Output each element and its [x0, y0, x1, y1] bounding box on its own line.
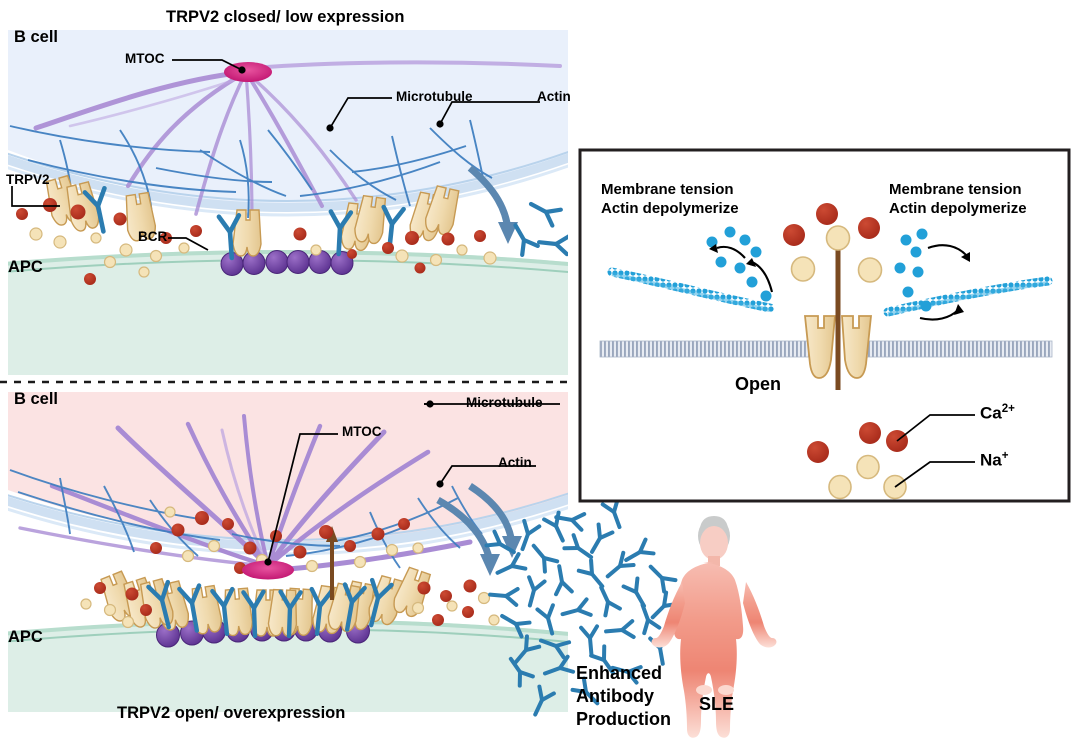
microtubule-dot-top — [326, 124, 333, 131]
bilayer-right — [857, 341, 1052, 357]
sle-label: SLE — [699, 694, 734, 714]
inset-caption-left-line1: Membrane tension — [601, 182, 734, 199]
bilayer-left — [600, 341, 820, 357]
inset-caption-right-line1: Membrane tension — [889, 182, 1022, 199]
panel-top-bcr-label: BCR — [138, 229, 167, 244]
calcium-symbol: Ca — [980, 404, 1002, 423]
panel-bottom-title: TRPV2 open/ overexpression — [117, 704, 345, 722]
inset-calcium-label: Ca2+ — [980, 403, 1015, 423]
panel-bottom-cell-label: B cell — [14, 390, 58, 408]
panel-bottom-actin-label: Actin — [498, 455, 532, 470]
actin-dot-top — [436, 120, 443, 127]
figure-canvas — [0, 0, 1077, 747]
inset-open-label: Open — [735, 374, 781, 394]
inset-sodium-label: Na+ — [980, 450, 1008, 470]
panel-top-mtoc-label: MTOC — [125, 51, 165, 66]
mtoc-dot-bottom — [264, 558, 271, 565]
calcium-charge: 2+ — [1002, 403, 1015, 415]
antibody-production-line1: Enhanced — [576, 663, 662, 683]
panel-top-microtubule-label: Microtubule — [396, 89, 473, 104]
panel-top-cell-label: B cell — [14, 28, 58, 46]
antibodies-top — [508, 196, 569, 255]
inset-caption-right-line2: Actin depolymerize — [889, 201, 1027, 218]
panel-bottom-mtoc-label: MTOC — [342, 424, 382, 439]
panel-top-graphics — [0, 30, 590, 375]
panel-bottom-graphics — [0, 392, 590, 712]
sodium-charge: + — [1002, 450, 1009, 462]
antibody-production-line2: Antibody — [576, 686, 654, 706]
antibody-production-line3: Production — [576, 709, 671, 729]
mtoc-dot-top — [238, 66, 245, 73]
panel-bottom-apc-label: APC — [8, 628, 43, 646]
actin-dot-bottom — [436, 480, 443, 487]
panel-top-actin-label: Actin — [537, 89, 571, 104]
inset-caption-left-line2: Actin depolymerize — [601, 201, 739, 218]
panel-bottom-microtubule-label: Microtubule — [466, 395, 543, 410]
sodium-symbol: Na — [980, 451, 1002, 470]
apc-body-top — [8, 250, 568, 375]
panel-top-title: TRPV2 closed/ low expression — [166, 8, 404, 26]
panel-top-apc-label: APC — [8, 258, 43, 276]
panel-top-trpv2-label: TRPV2 — [6, 172, 50, 187]
